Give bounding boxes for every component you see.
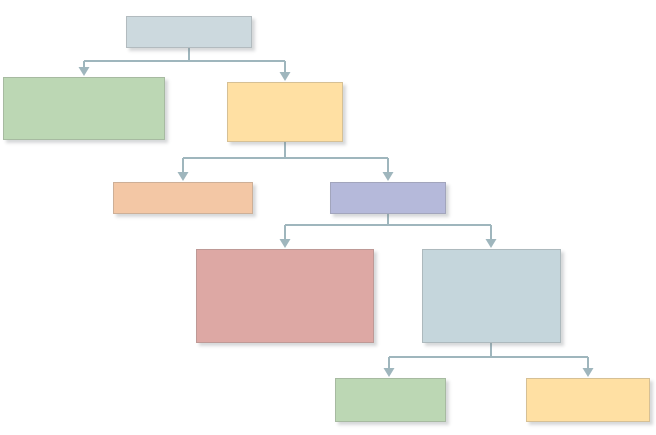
parasympathetic-box — [526, 378, 650, 422]
connector-nervous-system-to-children-arrowhead — [79, 67, 90, 76]
nervous-system-diagram — [0, 0, 656, 435]
connector-autonomic-to-children-arrowhead — [583, 368, 594, 377]
connector-peripheral-to-children-arrowhead — [178, 172, 189, 181]
connector-motor-to-children-arrowhead — [280, 239, 291, 248]
sensory-functions-box — [113, 182, 253, 214]
sympathetic-box — [335, 378, 446, 422]
connector-autonomic-to-children-arrowhead — [384, 368, 395, 377]
connector-motor-to-children-arrowhead — [486, 239, 497, 248]
peripheral-nervous-system-box — [227, 82, 343, 142]
connector-layer — [0, 0, 656, 435]
somatic-nervous-system-box — [196, 249, 374, 343]
connector-peripheral-to-children-arrowhead — [383, 172, 394, 181]
connector-nervous-system-to-children-arrowhead — [280, 72, 291, 81]
motor-functions-box — [330, 182, 446, 214]
nervous-system-box — [126, 16, 252, 48]
central-nervous-system-box — [3, 77, 165, 140]
autonomic-nervous-system-box — [422, 249, 561, 343]
